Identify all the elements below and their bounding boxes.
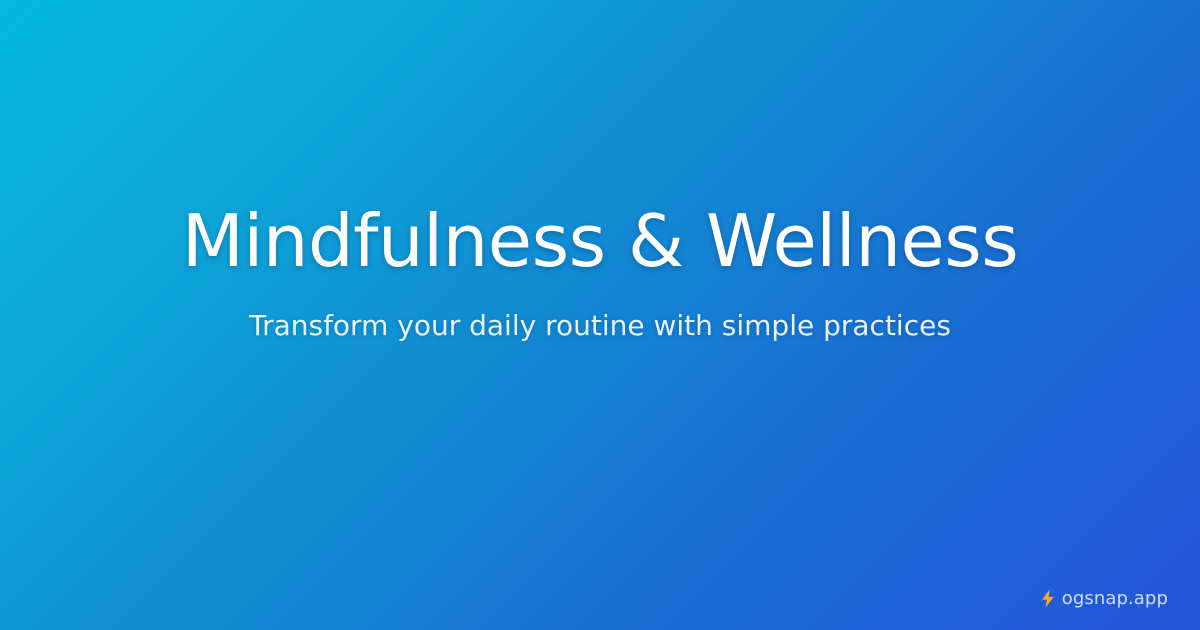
watermark-label: ogsnap.app bbox=[1062, 590, 1168, 608]
page-title: Mindfulness & Wellness bbox=[122, 201, 1079, 282]
lightning-bolt-icon bbox=[1041, 589, 1055, 608]
og-card: Mindfulness & Wellness Transform your da… bbox=[0, 0, 1200, 630]
page-subtitle: Transform your daily routine with simple… bbox=[179, 307, 1021, 345]
card-content: Mindfulness & Wellness Transform your da… bbox=[0, 201, 1200, 345]
watermark: ogsnap.app bbox=[1041, 589, 1168, 608]
